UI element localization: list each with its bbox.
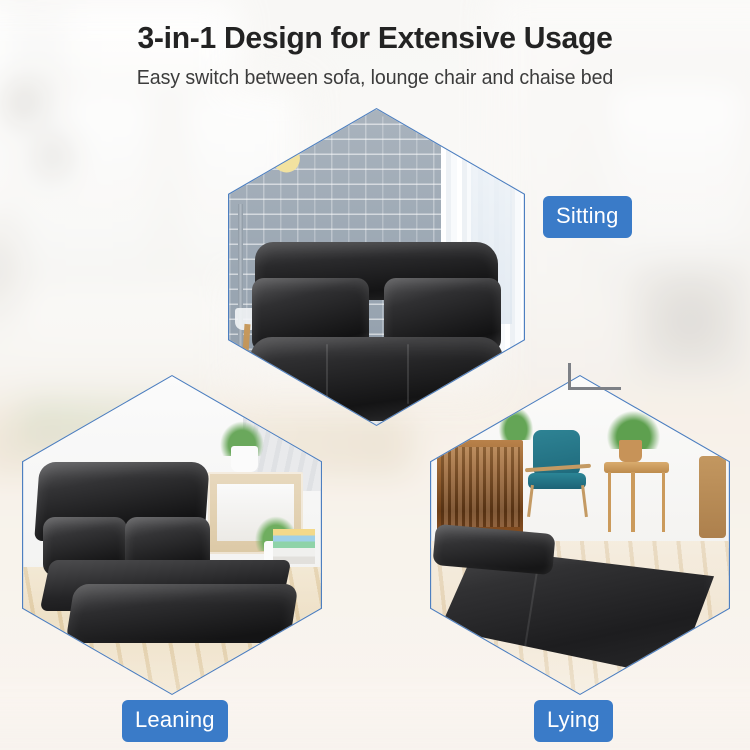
background-window-right: [592, 70, 750, 288]
product-feature-image: 3-in-1 Design for Extensive Usage Easy s…: [0, 0, 750, 750]
panel-lying[interactable]: [430, 375, 730, 695]
page-subtitle: Easy switch between sofa, lounge chair a…: [8, 65, 743, 91]
background-blur-blob-left: [0, 210, 20, 330]
armchair-leg-right: [581, 485, 588, 517]
side-table-leg-1: [608, 472, 611, 531]
sofa-seam-left: [326, 344, 328, 405]
side-table-top: [604, 462, 669, 473]
armchair-seat: [528, 473, 587, 489]
corner-bracket-marker: [568, 363, 621, 390]
teal-armchair: [523, 430, 591, 519]
black-leather-sofa-reclined: [26, 462, 300, 659]
sofa-seam-right: [407, 344, 409, 405]
bed-fold-seam: [520, 572, 538, 673]
black-leather-bed-flat: [434, 525, 720, 684]
bed-pillow: [433, 523, 556, 575]
page-title: 3-in-1 Design for Extensive Usage: [11, 18, 739, 58]
headline-block: 3-in-1 Design for Extensive Usage Easy s…: [0, 18, 750, 91]
side-table-leg-2: [631, 472, 634, 531]
wall-pipe: [238, 204, 243, 377]
plant-pot-table: [619, 440, 643, 462]
side-table-leg-3: [662, 472, 665, 531]
side-table: [604, 462, 669, 532]
panel-leaning-photo: [23, 376, 320, 693]
sofa-extension: [65, 584, 299, 643]
badge-leaning[interactable]: Leaning: [122, 700, 228, 742]
wood-cabinet: [437, 440, 523, 535]
badge-lying[interactable]: Lying: [534, 700, 613, 742]
panel-leaning[interactable]: [22, 375, 322, 695]
scene-lying: [431, 376, 728, 693]
background-pendant-shade-1: [10, 88, 38, 122]
scene-leaning: [23, 376, 320, 693]
armchair-leg-left: [527, 485, 534, 517]
background-pendant-shade-2: [40, 142, 66, 174]
background-blur-blob-right: [630, 260, 750, 380]
panel-lying-photo: [431, 376, 728, 693]
badge-sitting[interactable]: Sitting: [543, 196, 632, 238]
